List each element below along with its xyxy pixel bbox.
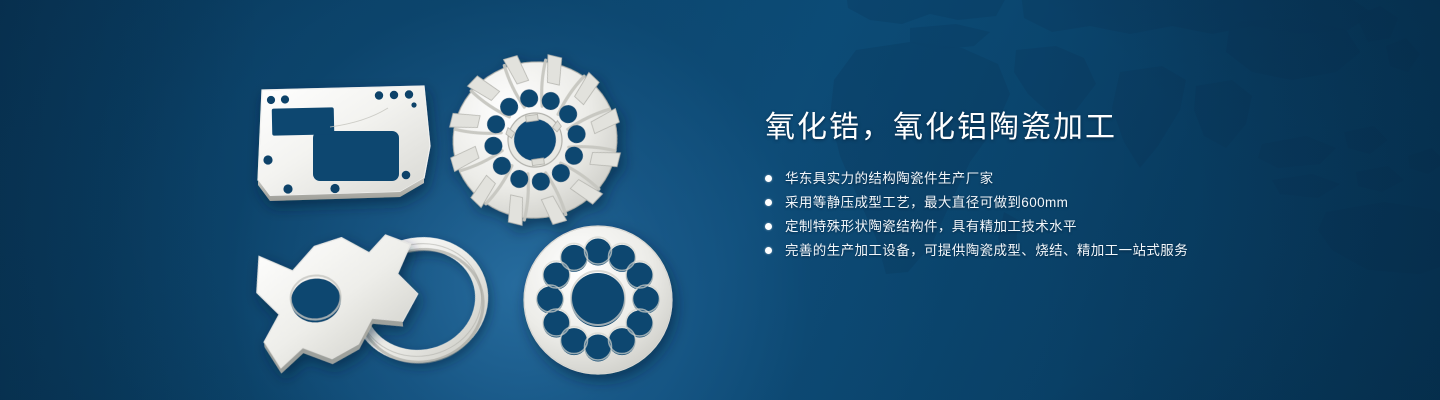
ceramic-plate: [258, 86, 430, 201]
list-item: 定制特殊形状陶瓷结构件，具有精加工技术水平: [765, 218, 1385, 235]
feature-list: 华东具实力的结构陶瓷件生产厂家 采用等静压成型工艺，最大直径可做到600mm 定…: [765, 170, 1385, 259]
bullet-dot-icon: [765, 247, 772, 254]
page-title: 氧化锆，氧化铝陶瓷加工: [765, 106, 1385, 150]
list-item: 采用等静压成型工艺，最大直径可做到600mm: [765, 194, 1385, 211]
bullet-dot-icon: [765, 175, 772, 182]
banner-copy: 氧化锆，氧化铝陶瓷加工 华东具实力的结构陶瓷件生产厂家 采用等静压成型工艺，最大…: [765, 106, 1385, 259]
ceramic-impeller: [438, 43, 632, 237]
ceramic-flange-disc: [524, 226, 672, 374]
list-item: 完善的生产加工设备，可提供陶瓷成型、烧结、精加工一站式服务: [765, 242, 1385, 259]
bullet-dot-icon: [765, 223, 772, 230]
hero-banner: 氧化锆，氧化铝陶瓷加工 华东具实力的结构陶瓷件生产厂家 采用等静压成型工艺，最大…: [0, 0, 1440, 400]
list-item-label: 华东具实力的结构陶瓷件生产厂家: [785, 170, 994, 187]
list-item-label: 完善的生产加工设备，可提供陶瓷成型、烧结、精加工一站式服务: [785, 242, 1188, 259]
list-item-label: 采用等静压成型工艺，最大直径可做到600mm: [785, 194, 1068, 211]
product-images: [0, 0, 740, 400]
list-item-label: 定制特殊形状陶瓷结构件，具有精加工技术水平: [785, 218, 1077, 235]
list-item: 华东具实力的结构陶瓷件生产厂家: [765, 170, 1385, 187]
bullet-dot-icon: [765, 199, 772, 206]
